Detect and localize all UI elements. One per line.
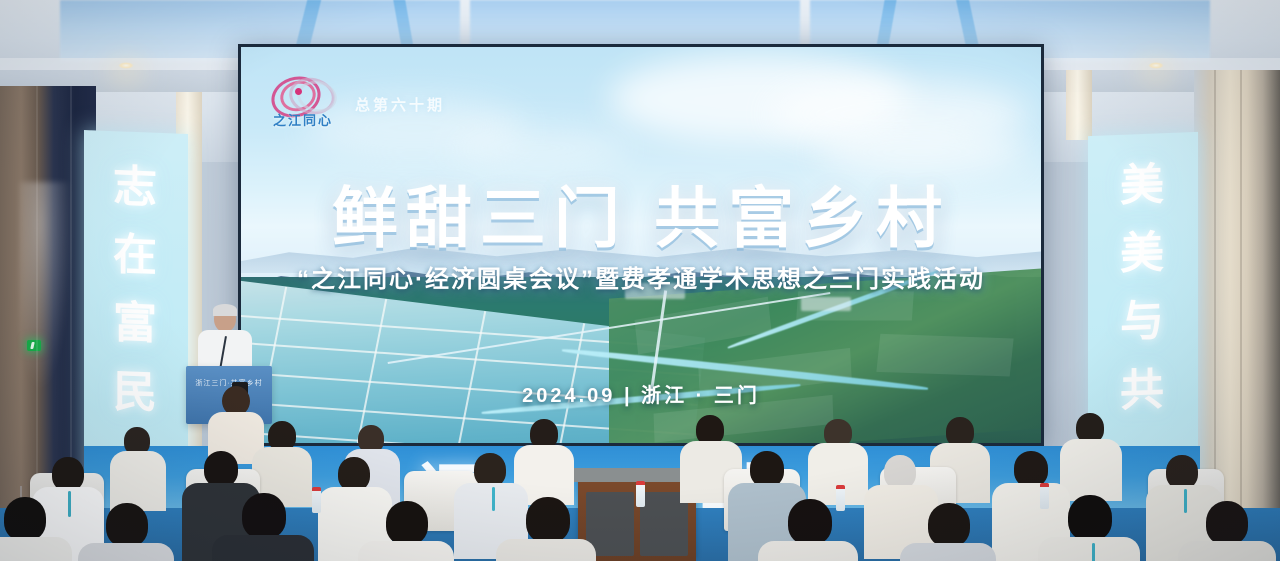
wall-pillar [1066, 70, 1092, 140]
conference-hall-photo: 志 在 富 民 美 美 与 共 [0, 0, 1280, 561]
screen-content: 之江同心 总第六十期 鲜甜三门 共富乡村 “之江同心·经济圆桌会议”暨费孝通学术… [241, 47, 1041, 443]
water-bottle [636, 481, 645, 507]
ceiling-downlight [1148, 62, 1164, 69]
village-cluster [801, 297, 851, 311]
swirl-logo-icon: 之江同心 [271, 75, 341, 127]
left-panel-char: 志 [113, 153, 159, 223]
right-panel-char: 美 [1120, 151, 1166, 221]
left-panel-text: 志 在 富 民 [84, 152, 188, 429]
water-bottle [1040, 483, 1049, 509]
water-bottle [836, 485, 845, 511]
right-panel-char: 与 [1120, 287, 1166, 357]
screen-date-line: 2024.09 | 浙江 · 三门 [241, 379, 1041, 408]
main-led-screen: 之江同心 总第六十期 鲜甜三门 共富乡村 “之江同心·经济圆桌会议”暨费孝通学术… [238, 44, 1044, 446]
logo-name: 之江同心 [273, 110, 333, 129]
screen-sub-title: “之江同心·经济圆桌会议”暨费孝通学术思想之三门实践活动 [241, 259, 1041, 294]
right-panel-text: 美 美 与 共 [1088, 150, 1198, 427]
water-bottle [312, 487, 321, 513]
left-panel-char: 富 [113, 289, 159, 359]
exit-sign-icon [27, 340, 41, 351]
event-logo: 之江同心 总第六十期 [271, 75, 445, 127]
ceiling-downlight [118, 62, 134, 69]
audience-seating [0, 411, 1280, 561]
right-panel-char: 美 [1120, 219, 1166, 289]
screen-main-title: 鲜甜三门 共富乡村 [241, 165, 1041, 261]
issue-label: 总第六十期 [355, 94, 445, 115]
left-panel-char: 在 [113, 221, 159, 291]
